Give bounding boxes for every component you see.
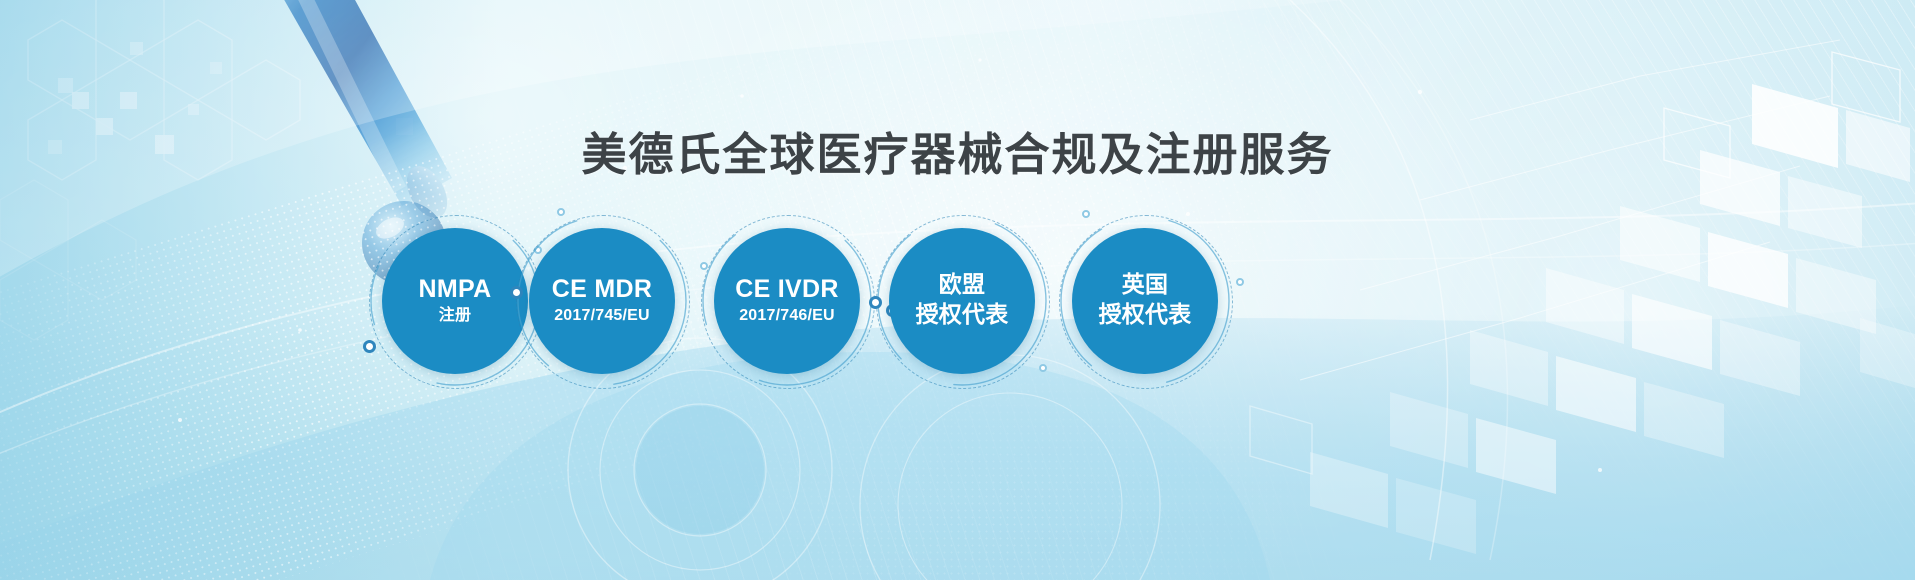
ring-node-dot-small (1236, 278, 1244, 286)
ring-node-dot-small (1082, 210, 1090, 218)
ring-node-dot-small (1039, 364, 1047, 372)
badge-disc: 英国 授权代表 (1072, 228, 1218, 374)
badge-disc: CE MDR 2017/745/EU (529, 228, 675, 374)
page-title: 美德氏全球医疗器械合规及注册服务 (0, 118, 1915, 183)
badge-title: 英国 (1122, 272, 1169, 298)
service-badge-ce-mdr[interactable]: CE MDR 2017/745/EU (529, 228, 675, 374)
badge-subtitle: 注册 (439, 306, 471, 327)
service-badge-nmpa[interactable]: NMPA 注册 (382, 228, 528, 374)
badge-disc: 欧盟 授权代表 (889, 228, 1035, 374)
hero-banner: 美德氏全球医疗器械合规及注册服务 NMPA 注册 CE MDR 201 (0, 0, 1915, 580)
ring-node-dot (510, 286, 523, 299)
badge-disc: NMPA 注册 (382, 228, 528, 374)
badge-subtitle: 授权代表 (916, 300, 1009, 330)
badge-subtitle: 2017/746/EU (739, 306, 835, 327)
badge-title: CE IVDR (735, 275, 839, 303)
service-badge-eu-rep[interactable]: 欧盟 授权代表 (889, 228, 1035, 374)
badge-subtitle: 授权代表 (1099, 300, 1192, 330)
service-badge-row: NMPA 注册 CE MDR 2017/745/EU CE (0, 228, 1915, 378)
badge-title: NMPA (419, 275, 492, 303)
ring-node-dot (869, 296, 882, 309)
ring-node-dot-small (557, 208, 565, 216)
service-badge-ce-ivdr[interactable]: CE IVDR 2017/746/EU (714, 228, 860, 374)
ring-node-dot (363, 340, 376, 353)
badge-subtitle: 2017/745/EU (554, 306, 650, 327)
badge-disc: CE IVDR 2017/746/EU (714, 228, 860, 374)
ring-node-dot-small (700, 262, 708, 270)
badge-title: 欧盟 (939, 272, 986, 298)
badge-title: CE MDR (552, 275, 652, 303)
service-badge-uk-rep[interactable]: 英国 授权代表 (1072, 228, 1218, 374)
